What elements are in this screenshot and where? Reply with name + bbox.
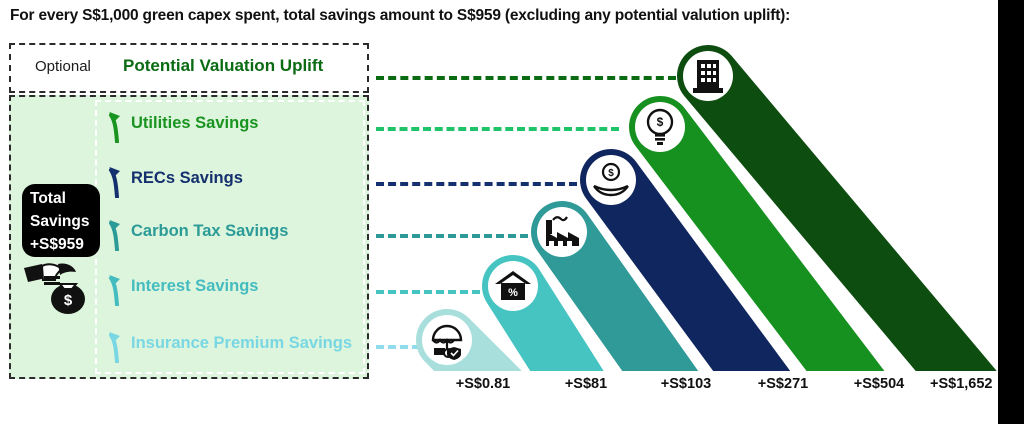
svg-text:$: $: [657, 115, 664, 129]
right-edge-band: [998, 0, 1024, 424]
value-label-insurance: +S$0.81: [433, 376, 533, 392]
svg-text:%: %: [508, 287, 518, 299]
diagonal-bar-chart: % $ $: [0, 0, 1024, 424]
value-label-utilities: +S$504: [833, 376, 925, 392]
svg-text:$: $: [608, 168, 614, 179]
office-building-icon: [693, 60, 723, 93]
infographic-canvas: For every S$1,000 green capex spent, tot…: [0, 0, 1024, 424]
value-label-carbon-tax: +S$103: [641, 376, 731, 392]
value-label-recs: +S$271: [738, 376, 828, 392]
factory-icon-bg: [537, 207, 587, 257]
value-label-interest: +S$81: [545, 376, 627, 392]
